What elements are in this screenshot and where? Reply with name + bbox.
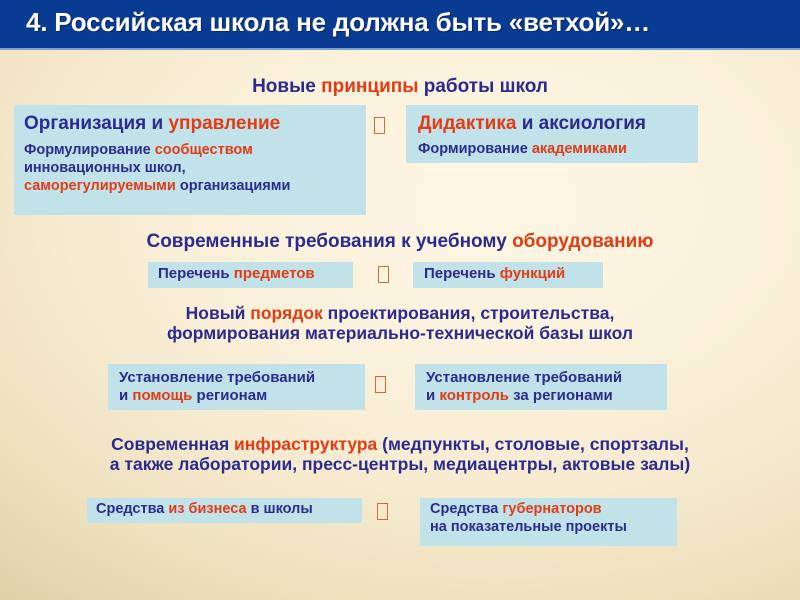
heading-order-line-1-part2: порядок [250,303,323,323]
heading-order-line-1-part3: проектирования, строительства, [323,303,615,323]
box-organization-line-3: саморегулируемыми организациями [24,178,366,196]
box-governor-funds-line-1-part2: губернаторов [502,501,601,517]
box-didactics-line-1-part1: Формирование [418,141,532,157]
box-organization-line-2-part1: инновационных школ, [24,160,186,176]
box-list-of-functions-part2: функций [500,265,566,282]
box-didactics-title: Дидактика и аксиология [418,112,698,135]
box-requirements-and-control: Установление требований и контроль за ре… [415,364,667,410]
box-funds-from-business-part3: в школы [247,501,313,517]
title-banner: 4. Российская школа не должна быть «ветх… [0,0,800,50]
box-organization-line-2: инновационных школ, [24,160,366,178]
heading-infrastructure-line-1-part1: Современная [111,434,234,454]
box-organization-line-3-part2: организациями [176,178,291,194]
heading-equipment-part2: оборудованию [512,231,653,252]
box-list-of-subjects-part2: предметов [234,265,315,282]
slide-canvas: 4. Российская школа не должна быть «ветх… [0,0,800,600]
heading-equipment-part1: Современные требования к учебному [146,231,512,252]
box-didactics-title-part2: и аксиология [516,113,646,134]
heading-order-line-1-part1: Новый [186,303,251,323]
heading-order-line-1: Новый порядок проектирования, строительс… [0,303,800,323]
box-list-of-functions-part1: Перечень [424,265,500,282]
heading-equipment: Современные требования к учебному оборуд… [0,231,800,253]
heading-infrastructure: Современная инфраструктура (медпункты, с… [0,434,800,475]
connector-missing-glyph-icon-1 [374,117,385,134]
box-requirements-and-control-line-1: Установление требований [426,369,667,387]
box-governor-funds-line-1: Средства губернаторов [430,501,677,519]
box-list-of-subjects-part1: Перечень [158,265,234,282]
heading-principles: Новые принципы работы школ [0,76,800,98]
box-didactics-line-1-part2: академиками [532,141,627,157]
heading-infrastructure-line-2: а также лаборатории, пресс-центры, медиа… [0,454,800,474]
box-list-of-functions-text: Перечень функций [424,265,603,283]
heading-principles-part1: Новые [252,76,321,97]
connector-missing-glyph-icon-3 [375,376,386,393]
box-funds-from-business-text: Средства из бизнеса в школы [96,501,362,519]
box-requirements-and-control-line-2: и контроль за регионами [426,387,667,405]
box-funds-from-business: Средства из бизнеса в школы [87,498,362,523]
box-requirements-and-help-line-2-part1: и [119,387,132,404]
box-organization-line-1-part1: Формулирование [24,142,155,158]
box-requirements-and-control-line-2-part1: и [426,387,439,404]
box-funds-from-business-part1: Средства [96,501,168,517]
box-list-of-subjects-text: Перечень предметов [158,265,353,283]
box-didactics-title-part1: Дидактика [418,113,516,134]
box-list-of-functions: Перечень функций [413,262,603,288]
connector-missing-glyph-icon-4 [377,503,388,520]
box-list-of-subjects: Перечень предметов [148,262,353,288]
box-requirements-and-help-line-1: Установление требований [119,369,365,387]
box-organization-line-1: Формулирование сообществом [24,142,366,160]
box-governor-funds-line-1-part1: Средства [430,501,502,517]
connector-missing-glyph-icon-2 [378,266,389,283]
box-requirements-and-control-line-2-part2: контроль [439,387,509,404]
box-organization-title-part2: управление [168,113,280,134]
box-governor-funds: Средства губернаторов на показательные п… [420,498,677,546]
box-funds-from-business-part2: из бизнеса [168,501,246,517]
box-governor-funds-line-2: на показательные проекты [430,519,677,537]
box-organization-line-1-part2: сообществом [155,142,253,158]
heading-infrastructure-line-1: Современная инфраструктура (медпункты, с… [0,434,800,454]
page-title: 4. Российская школа не должна быть «ветх… [26,7,650,38]
box-requirements-and-control-line-2-part3: за регионами [509,387,613,404]
heading-order-line-2: формирования материально-технической баз… [0,323,800,343]
heading-infrastructure-line-1-part3: (медпункты, столовые, спортзалы, [377,434,689,454]
box-didactics-axiology: Дидактика и аксиология Формирование акад… [406,105,698,163]
box-requirements-and-help-line-2: и помощь регионам [119,387,365,405]
box-organization-title-part1: Организация и [24,113,168,134]
box-requirements-and-help-line-2-part2: помощь [132,387,192,404]
box-organization-management: Организация и управление Формулирование … [14,105,366,215]
heading-infrastructure-line-1-part2: инфраструктура [234,434,377,454]
box-organization-title: Организация и управление [24,112,366,135]
box-requirements-and-help: Установление требований и помощь региона… [108,364,365,410]
box-requirements-and-help-line-2-part3: регионам [192,387,267,404]
box-organization-line-3-part1: саморегулируемыми [24,178,176,194]
heading-principles-part3: работы школ [418,76,547,97]
box-didactics-line-1: Формирование академиками [418,141,698,159]
heading-principles-part2: принципы [321,76,418,97]
heading-order: Новый порядок проектирования, строительс… [0,303,800,344]
